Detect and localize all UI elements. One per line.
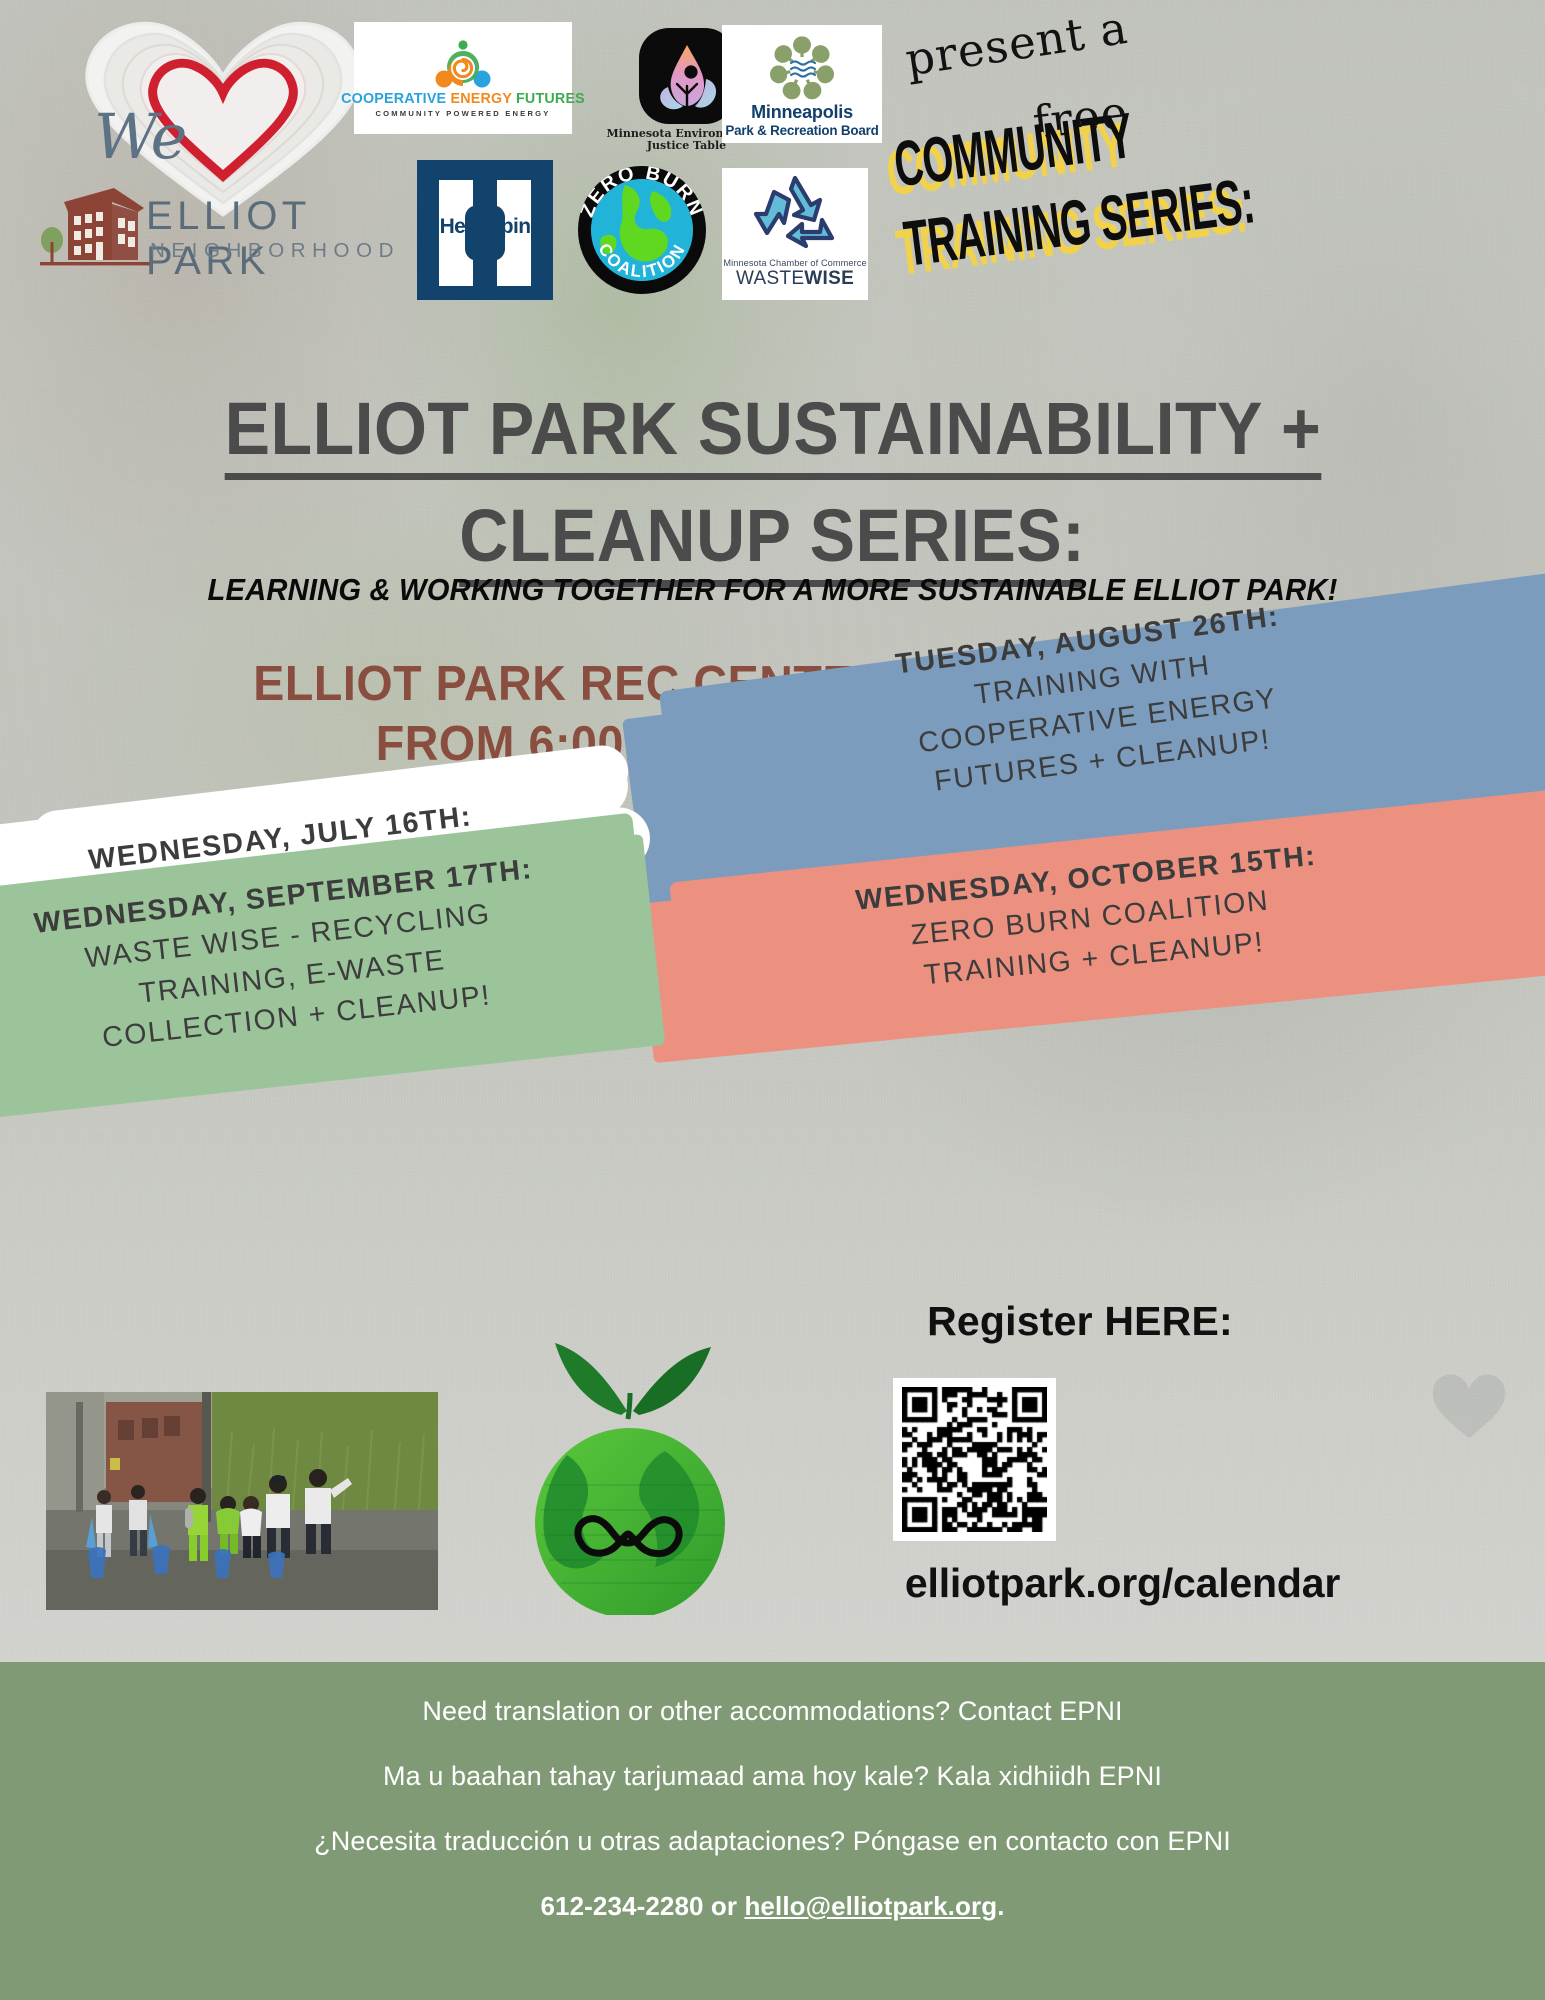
footer-phone: 612-234-2280 or [540,1891,744,1921]
wastewise-bold: WISE [804,268,854,289]
cooperative-spiral-icon [434,39,492,91]
qr-code[interactable] [893,1378,1056,1541]
zero-burn-coalition-logo: ZERO BURN COALITION [578,166,706,294]
title-line-1: ELLIOT PARK SUSTAINABILITY + [224,392,1321,480]
globe-sprout-infinity-icon [515,1335,745,1615]
wastewise-wordmark: WASTEWISE [736,268,854,290]
wastewise-logo: Minnesota Chamber of Commerce WASTEWISE [722,168,868,300]
present-line-1: present a [902,1,1131,87]
footer-email-link[interactable]: hello@elliotpark.org [744,1891,997,1921]
epni-subname: NEIGHBORHOOD [150,239,400,263]
ghost-heart-icon [1429,1370,1509,1442]
cooperative-energy-futures-logo: COOPERATIVE ENERGY FUTURES COMMUNITY POW… [354,22,572,134]
cef-wordmark: COOPERATIVE ENERGY FUTURES [341,91,585,107]
cef-word-2: ENERGY [450,91,511,107]
footer-accessibility-block: Need translation or other accommodations… [0,1662,1545,2000]
svg-text:COALITION: COALITION [594,240,689,281]
wastewise-light: WASTE [736,268,804,289]
register-heading: Register HERE: [810,1298,1350,1345]
footer-line-spanish: ¿Necesita traducción u otras adaptacione… [0,1828,1545,1855]
footer-period: . [997,1891,1004,1921]
page-title: ELLIOT PARK SUSTAINABILITY + CLEANUP SER… [0,392,1545,587]
hennepin-label: Hennepin [417,215,553,239]
poster-root: We ELLIOT PARK NEIGHBORHOOD COOPERATIVE … [0,0,1545,2000]
svg-text:ZERO BURN: ZERO BURN [578,166,706,220]
cleanup-photo [46,1392,438,1610]
footer-line-english: Need translation or other accommodations… [0,1698,1545,1725]
flame-leaf-hands-icon [639,28,735,124]
session-banner-october: WEDNESDAY, OCTOBER 15TH: ZERO BURN COALI… [630,828,1545,1046]
recycle-arrows-icon [748,172,842,254]
zero-burn-text: ZERO BURN COALITION [578,166,706,294]
footer-line-somali: Ma u baahan tahay tarjumaad ama hoy kale… [0,1763,1545,1790]
present-free-series-headline: present a Free COMMUNITY COMMUNITY TRAIN… [880,12,1540,342]
minneapolis-park-board-logo: Minneapolis Park & Recreation Board [722,25,882,143]
register-url[interactable]: elliotpark.org/calendar [700,1560,1545,1607]
session-banner-september: WEDNESDAY, SEPTEMBER 17TH: WASTE WISE - … [0,846,680,1116]
mprb-line2: Park & Recreation Board [725,123,878,138]
footer-contact: 612-234-2280 or hello@elliotpark.org. [0,1893,1545,1919]
building-tree-icon [40,176,150,271]
cef-word-3: FUTURES [516,91,585,107]
cef-word-1: COOPERATIVE [341,91,446,107]
mprb-line1: Minneapolis [751,102,853,123]
cef-tagline: COMMUNITY POWERED ENERGY [375,109,550,118]
tree-circle-water-icon [755,36,849,102]
green-globe-logo [515,1335,745,1615]
community-training-series: COMMUNITY COMMUNITY TRAINING SERIES: TRA… [890,57,1472,281]
hennepin-county-logo: Hennepin [417,160,553,300]
epni-script-word: We [94,100,185,173]
wastewise-org: Minnesota Chamber of Commerce [723,258,866,268]
